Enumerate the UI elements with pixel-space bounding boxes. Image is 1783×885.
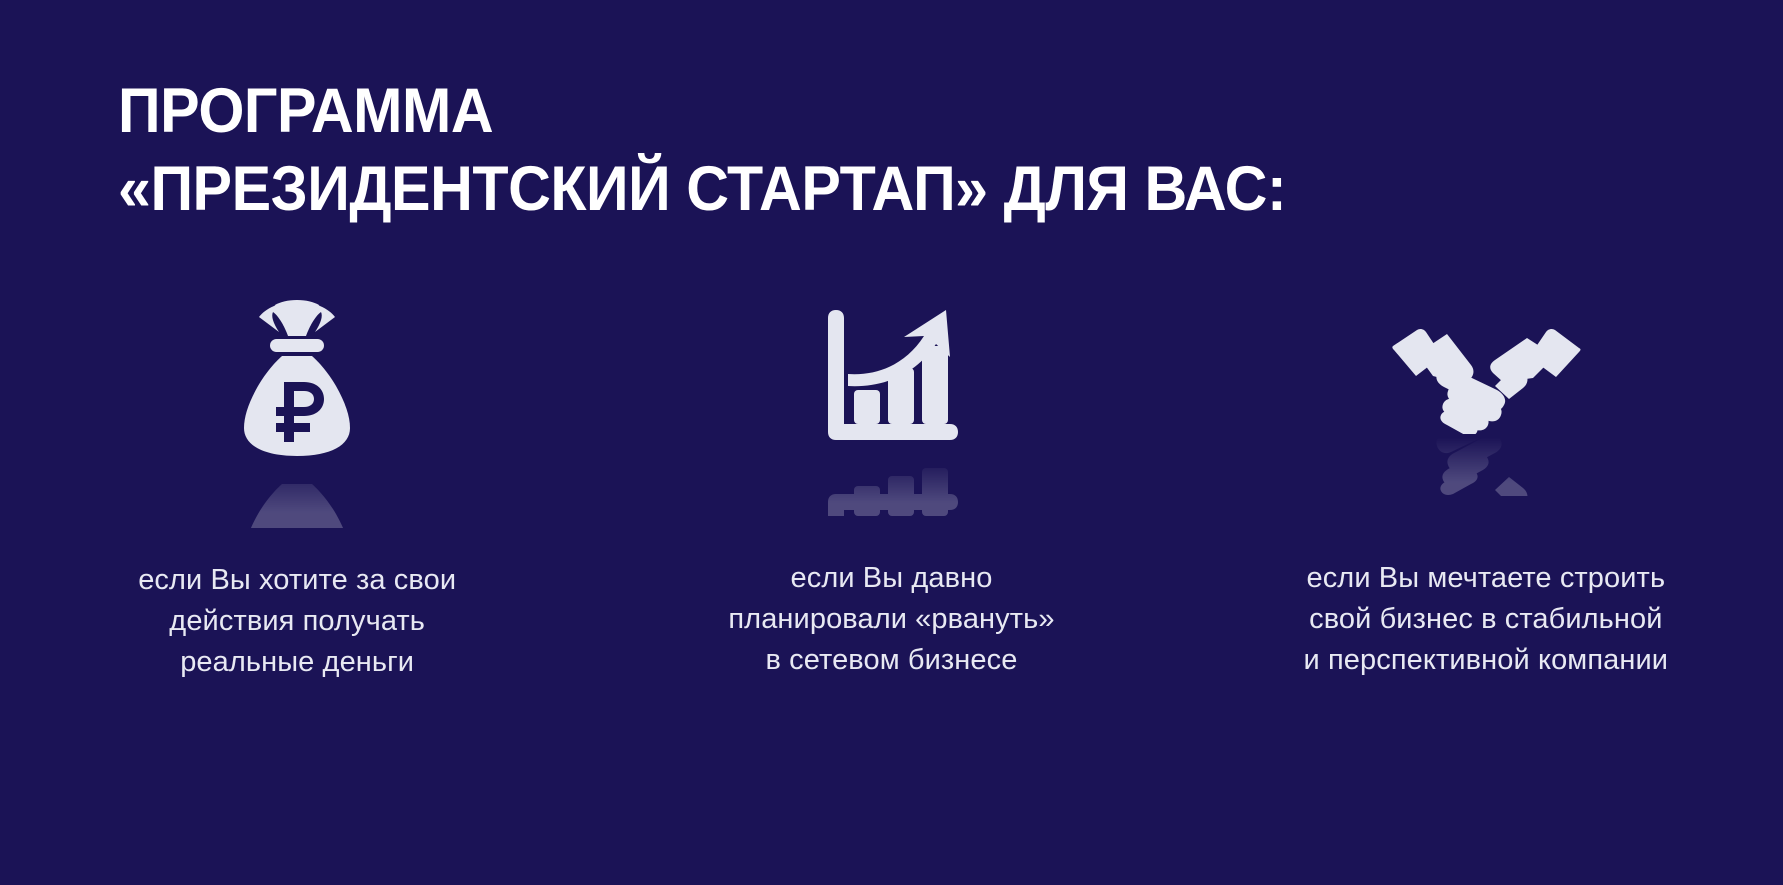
icon-money-bag-ruble-wrap [182,296,412,508]
page-title: ПРОГРАММА «ПРЕЗИДЕНТСКИЙ СТАРТАП» ДЛЯ ВА… [118,72,1538,228]
benefit-columns: если Вы хотите за свои действия получать… [0,296,1783,683]
benefit-column-money: если Вы хотите за свои действия получать… [0,296,594,683]
benefit-caption-partnership: если Вы мечтаете строить свой бизнес в с… [1226,558,1746,681]
benefit-column-partnership: если Вы мечтаете строить свой бизнес в с… [1189,296,1783,683]
headline-line-2: «ПРЕЗИДЕНТСКИЙ СТАРТАП» ДЛЯ ВАС: [118,150,1453,228]
headline-line-1: ПРОГРАММА [118,72,1453,150]
caption-line: свой бизнес в стабильной [1226,599,1746,640]
growth-chart-reflection [776,456,1006,516]
benefit-caption-growth: если Вы давно планировали «рвануть» в се… [631,558,1151,681]
handshake-reflection [1371,434,1601,496]
icon-handshake-wrap [1371,296,1601,506]
caption-line: если Вы давно [631,558,1151,599]
caption-line: если Вы хотите за свои [37,560,557,601]
caption-line: если Вы мечтаете строить [1226,558,1746,599]
icon-growth-chart-wrap [776,296,1006,506]
money-bag-reflection [182,458,412,528]
money-bag-ruble-icon [222,296,372,461]
benefit-caption-money: если Вы хотите за свои действия получать… [37,560,557,683]
caption-line: в сетевом бизнесе [631,640,1151,681]
promo-banner: ПРОГРАММА «ПРЕЗИДЕНТСКИЙ СТАРТАП» ДЛЯ ВА… [0,0,1783,885]
caption-line: планировали «рвануть» [631,599,1151,640]
benefit-column-growth: если Вы давно планировали «рвануть» в се… [594,296,1188,683]
caption-line: действия получать [37,601,557,642]
handshake-icon [1391,324,1581,439]
caption-line: и перспективной компании [1226,640,1746,681]
caption-line: реальные деньги [37,642,557,683]
growth-bar-chart-arrow-icon [818,296,964,461]
